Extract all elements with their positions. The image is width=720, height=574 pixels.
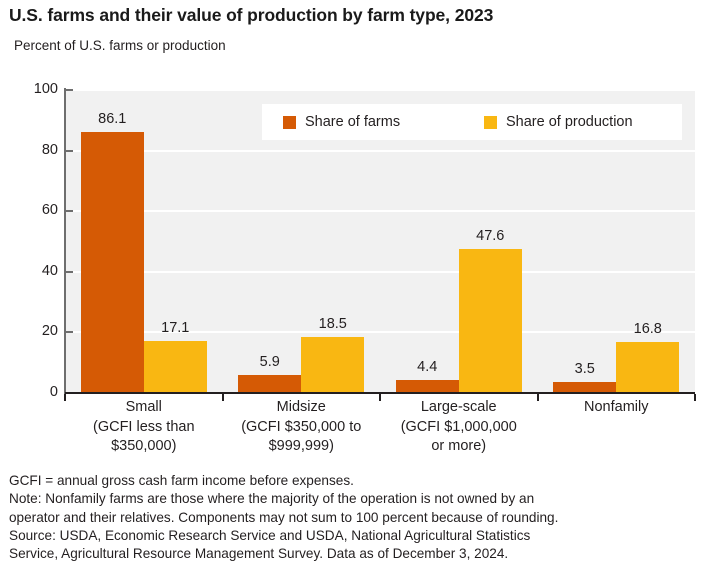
footnote-line: GCFI = annual gross cash farm income bef… (9, 472, 715, 490)
y-axis-tick-label: 100 (0, 81, 58, 97)
bar (144, 341, 207, 393)
chart-legend: Share of farmsShare of production (262, 104, 682, 140)
y-axis-tick (66, 150, 73, 152)
bar-value-label: 18.5 (291, 316, 374, 332)
bar-value-label: 86.1 (71, 111, 154, 127)
chart-subtitle: Percent of U.S. farms or production (14, 38, 226, 53)
y-axis-tick-label: 40 (0, 263, 58, 279)
footnote-line: operator and their relatives. Components… (9, 509, 715, 527)
bar (396, 380, 459, 393)
y-axis-tick (66, 210, 73, 212)
legend-swatch-icon (484, 116, 497, 129)
bar-value-label: 17.1 (134, 320, 217, 336)
bar-value-label: 16.8 (606, 321, 689, 337)
bar (238, 375, 301, 393)
bar-value-label: 5.9 (228, 354, 311, 370)
gridline (65, 271, 695, 273)
page-title: U.S. farms and their value of production… (9, 5, 493, 26)
y-axis-tick-label: 20 (0, 323, 58, 339)
legend-item[interactable]: Share of farms (283, 114, 400, 130)
footnote-block: GCFI = annual gross cash farm income bef… (9, 472, 715, 563)
footnote-line: Note: Nonfamily farms are those where th… (9, 490, 715, 508)
bar-value-label: 47.6 (449, 228, 532, 244)
category-label-line: Nonfamily (518, 398, 716, 418)
footnote-line: Service, Agricultural Resource Managemen… (9, 545, 715, 563)
y-axis-tick (66, 271, 73, 273)
y-axis-tick-label: 80 (0, 142, 58, 158)
legend-swatch-icon (283, 116, 296, 129)
gridline (65, 210, 695, 212)
y-axis-line (64, 88, 66, 394)
legend-item[interactable]: Share of production (484, 114, 633, 130)
y-axis-tick (66, 331, 73, 333)
bar-value-label: 4.4 (386, 359, 469, 375)
legend-label: Share of production (506, 114, 633, 130)
y-axis-tick-label: 60 (0, 202, 58, 218)
gridline (65, 89, 695, 91)
bar (81, 132, 144, 393)
category-label-line: or more) (360, 437, 558, 457)
gridline (65, 150, 695, 152)
x-axis-category-label: Nonfamily (518, 398, 716, 418)
legend-label: Share of farms (305, 114, 400, 130)
y-axis-tick (66, 89, 73, 91)
footnote-line: Source: USDA, Economic Research Service … (9, 527, 715, 545)
bar-value-label: 3.5 (543, 361, 626, 377)
category-label-line: (GCFI $1,000,000 (360, 418, 558, 438)
